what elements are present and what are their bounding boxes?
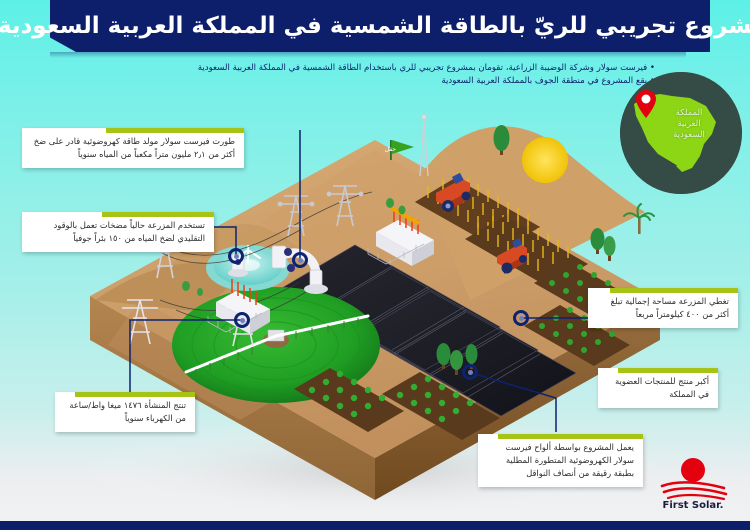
svg-text:حقل: حقل (385, 146, 397, 153)
callout-output: تنتج المنشأة ١٤٧٦ ميغا واط/ساعة من الكهر… (55, 392, 195, 432)
intro-bullet-list: • فيرست سولار وشركة الوضيبة الزراعية، تق… (95, 62, 655, 88)
first-solar-logo: First Solar. (654, 458, 732, 516)
callout-accent-bar (618, 368, 718, 373)
callout-accent-bar (102, 212, 214, 217)
logo-sun-icon (681, 458, 705, 482)
callout-pumps: تستخدم المزرعة حالياً مضخات تعمل بالوقود… (22, 212, 214, 252)
intro-bullet-1: • فيرست سولار وشركة الوضيبة الزراعية، تق… (95, 62, 655, 75)
callout-panels-text: يعمل المشروع بواسطة ألواح فيرست سولار ال… (487, 441, 634, 480)
callout-panels: يعمل المشروع بواسطة ألواح فيرست سولار ال… (478, 434, 643, 487)
callout-organic-text: أكبر منتج للمنتجات العضوية في المملكة (607, 375, 709, 401)
footer-bar (0, 521, 750, 530)
callout-accent-bar (106, 128, 244, 133)
page-title: مشروع تجريبي للريّ بالطاقة الشمسية في ال… (62, 4, 702, 48)
marker-area[interactable] (513, 310, 529, 326)
callout-generator-text: طورت فيرست سولار مولد طاقة كهروضوئية قاد… (31, 135, 235, 161)
callout-output-text: تنتج المنشأة ١٤٧٦ ميغا واط/ساعة من الكهر… (64, 399, 186, 425)
logo-brand-text: First Solar. (654, 500, 732, 511)
header-band-shadow (50, 52, 686, 58)
marker-generator[interactable] (292, 252, 308, 268)
saudi-map-badge: المملكة العربية السعودية (620, 72, 742, 194)
logo-waves-icon (654, 480, 732, 502)
callout-accent-bar (610, 288, 738, 293)
callout-pumps-text: تستخدم المزرعة حالياً مضخات تعمل بالوقود… (31, 219, 205, 245)
callout-area: تغطي المزرعة مساحة إجمالية تبلغ أكثر من … (588, 288, 738, 328)
intro-bullet-2: • يقع المشروع في منطقة الجوف بالمملكة ال… (95, 75, 655, 88)
callout-organic: أكبر منتج للمنتجات العضوية في المملكة (598, 368, 718, 408)
sun-graphic (522, 137, 568, 183)
marker-output[interactable] (234, 312, 250, 328)
callout-generator: طورت فيرست سولار مولد طاقة كهروضوئية قاد… (22, 128, 244, 168)
infographic-canvas: حقل مشروع تجريبي للريّ بالطاقة الشمسية ف… (0, 0, 750, 530)
callout-accent-bar (498, 434, 643, 439)
callout-accent-bar (75, 392, 195, 397)
marker-pumps[interactable] (228, 248, 244, 264)
marker-panels[interactable] (462, 364, 478, 380)
callout-area-text: تغطي المزرعة مساحة إجمالية تبلغ أكثر من … (597, 295, 729, 321)
antenna-mast (420, 115, 428, 176)
map-country-label: المملكة العربية السعودية (660, 108, 718, 141)
